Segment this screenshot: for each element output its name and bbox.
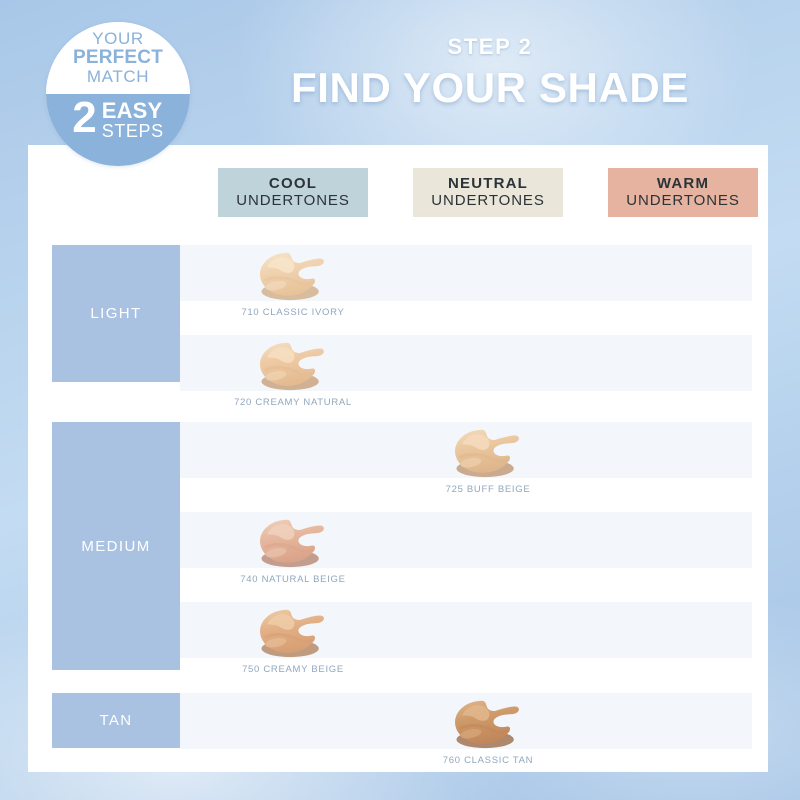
depth-label-tan: TAN bbox=[52, 693, 180, 748]
depth-label-text: LIGHT bbox=[90, 305, 141, 322]
undertone-name: NEUTRAL bbox=[448, 176, 528, 193]
badge-step-number: 2 bbox=[72, 98, 96, 138]
foundation-smear-icon bbox=[250, 247, 336, 303]
undertone-sub: UNDERTONES bbox=[236, 193, 349, 210]
badge-line-perfect: PERFECT bbox=[73, 48, 163, 68]
badge-step-words: EASY STEPS bbox=[102, 98, 164, 141]
undertone-header-cool: COOLUNDERTONES bbox=[218, 168, 368, 217]
depth-label-text: TAN bbox=[99, 712, 132, 729]
undertone-name: WARM bbox=[657, 176, 709, 193]
badge-word-easy: EASY bbox=[102, 100, 164, 122]
depth-label-medium: MEDIUM bbox=[52, 422, 180, 670]
badge-line-your: YOUR bbox=[92, 30, 144, 48]
foundation-smear-icon bbox=[250, 514, 336, 570]
shade-cell-710[interactable]: 710 CLASSIC IVORY bbox=[218, 247, 368, 318]
shade-cell-725[interactable]: 725 BUFF BEIGE bbox=[413, 424, 563, 495]
shade-cell-740[interactable]: 740 NATURAL BEIGE bbox=[218, 514, 368, 585]
perfect-match-badge: YOUR PERFECT MATCH 2 EASY STEPS bbox=[46, 22, 190, 166]
foundation-smear-icon bbox=[445, 424, 531, 480]
shade-label: 740 NATURAL BEIGE bbox=[240, 574, 345, 585]
shade-table-card: LIGHTMEDIUMTAN COOLUNDERTONESNEUTRALUNDE… bbox=[28, 145, 768, 772]
shade-label: 760 CLASSIC TAN bbox=[443, 755, 533, 766]
badge-line-match: MATCH bbox=[87, 68, 149, 86]
page-title: FIND YOUR SHADE bbox=[230, 67, 750, 109]
shade-cell-760[interactable]: 760 CLASSIC TAN bbox=[413, 695, 563, 766]
foundation-smear-icon bbox=[250, 337, 336, 393]
shade-label: 720 CREAMY NATURAL bbox=[234, 397, 352, 408]
shade-cell-750[interactable]: 750 CREAMY BEIGE bbox=[218, 604, 368, 675]
badge-bottom-half: 2 EASY STEPS bbox=[46, 94, 190, 166]
depth-label-light: LIGHT bbox=[52, 245, 180, 382]
step-label: STEP 2 bbox=[230, 36, 750, 58]
depth-label-text: MEDIUM bbox=[81, 538, 150, 555]
shade-cell-720[interactable]: 720 CREAMY NATURAL bbox=[218, 337, 368, 408]
shade-label: 710 CLASSIC IVORY bbox=[241, 307, 344, 318]
page-header: STEP 2 FIND YOUR SHADE bbox=[230, 36, 750, 109]
undertone-header-neutral: NEUTRALUNDERTONES bbox=[413, 168, 563, 217]
foundation-smear-icon bbox=[250, 604, 336, 660]
undertone-sub: UNDERTONES bbox=[626, 193, 739, 210]
shade-finder-infographic: YOUR PERFECT MATCH 2 EASY STEPS STEP 2 F… bbox=[0, 0, 800, 800]
badge-top-half: YOUR PERFECT MATCH bbox=[46, 22, 190, 94]
shade-label: 750 CREAMY BEIGE bbox=[242, 664, 344, 675]
shade-label: 725 BUFF BEIGE bbox=[446, 484, 531, 495]
undertone-header-warm: WARMUNDERTONES bbox=[608, 168, 758, 217]
undertone-name: COOL bbox=[269, 176, 317, 193]
undertone-sub: UNDERTONES bbox=[431, 193, 544, 210]
foundation-smear-icon bbox=[445, 695, 531, 751]
badge-word-steps: STEPS bbox=[102, 122, 164, 140]
